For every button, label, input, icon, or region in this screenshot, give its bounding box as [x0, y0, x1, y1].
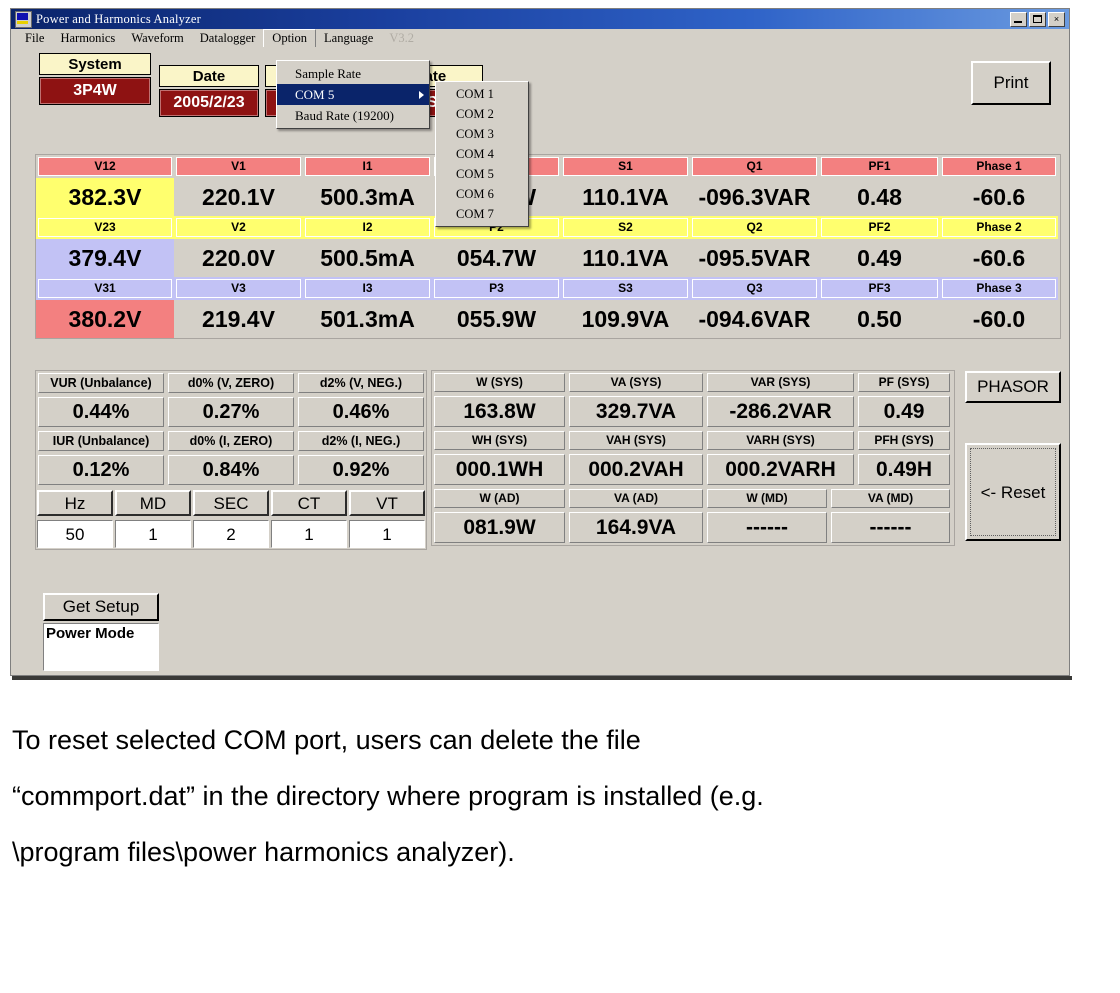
value-p3: 055.9W: [432, 300, 561, 338]
header-va-md: VA (MD): [831, 489, 950, 508]
chevron-right-icon: [419, 91, 424, 99]
value-phase3: -60.0: [940, 300, 1058, 338]
value-w-ad: 081.9W: [434, 512, 565, 543]
header-pf1: PF1: [821, 157, 938, 176]
value-d0-i-zero: 0.84%: [168, 455, 294, 485]
value-vah-sys: 000.2VAH: [569, 454, 703, 485]
sys-value-row-1: 163.8W 329.7VA -286.2VAR 0.49: [432, 394, 954, 429]
system-group: System 3P4W: [39, 53, 151, 105]
window-controls: ×: [1010, 12, 1065, 27]
unbalance-header-row-1: VUR (Unbalance) d0% (V, ZERO) d2% (V, NE…: [36, 371, 426, 395]
value-v31: 380.2V: [36, 300, 174, 338]
menu-language[interactable]: Language: [316, 30, 381, 47]
submenu-item-com1[interactable]: COM 1: [436, 84, 528, 104]
header-w-sys: W (SYS): [434, 373, 565, 392]
caption-text: To reset selected COM port, users can de…: [12, 712, 1092, 880]
get-setup-button[interactable]: Get Setup: [43, 593, 159, 621]
value-q2: -095.5VAR: [690, 239, 819, 277]
menu-file[interactable]: File: [17, 30, 52, 47]
header-va-sys: VA (SYS): [569, 373, 703, 392]
reset-button[interactable]: <- Reset: [965, 443, 1061, 541]
value-v12: 382.3V: [36, 178, 174, 216]
caption-line-3: \program files\power harmonics analyzer)…: [12, 824, 1092, 880]
value-sec[interactable]: 2: [193, 520, 269, 548]
system-label: System: [39, 53, 151, 75]
value-pf-sys: 0.49: [858, 396, 950, 427]
value-v3: 219.4V: [174, 300, 303, 338]
version-label: V3.2: [381, 30, 422, 47]
settings-header-row: Hz MD SEC CT VT: [36, 489, 426, 517]
header-q1: Q1: [692, 157, 817, 176]
menu-item-com5[interactable]: COM 5: [277, 84, 429, 105]
value-s2: 110.1VA: [561, 239, 690, 277]
value-i3: 501.3mA: [303, 300, 432, 338]
header-wh-sys: WH (SYS): [434, 431, 565, 450]
header-phase1: Phase 1: [942, 157, 1056, 176]
submenu-item-com5[interactable]: COM 5: [436, 164, 528, 184]
menu-item-com5-label: COM 5: [295, 87, 334, 102]
close-button[interactable]: ×: [1048, 12, 1065, 27]
header-pf3: PF3: [821, 279, 938, 298]
value-i2: 500.5mA: [303, 239, 432, 277]
menu-item-sample-rate[interactable]: Sample Rate: [277, 63, 429, 84]
value-vt[interactable]: 1: [349, 520, 425, 548]
table-value-row-3: 380.2V 219.4V 501.3mA 055.9W 109.9VA -09…: [36, 300, 1060, 338]
header-phase3: Phase 3: [942, 279, 1056, 298]
app-window: Power and Harmonics Analyzer × File Harm…: [10, 8, 1070, 676]
title-bar: Power and Harmonics Analyzer ×: [11, 9, 1069, 29]
header-v23: V23: [38, 218, 172, 237]
table-header-row-1: V12 V1 I1 P1 S1 Q1 PF1 Phase 1: [36, 155, 1060, 178]
maximize-button[interactable]: [1029, 12, 1046, 27]
value-va-ad: 164.9VA: [569, 512, 703, 543]
header-s3: S3: [563, 279, 688, 298]
power-mode-field[interactable]: Power Mode: [43, 623, 159, 671]
value-d2-i-neg: 0.92%: [298, 455, 424, 485]
header-phase2: Phase 2: [942, 218, 1056, 237]
minimize-button[interactable]: [1010, 12, 1027, 27]
status-bar: System 3P4W Date 2005/2/23 Time 16.52.00…: [25, 53, 1059, 115]
header-d2-i-neg: d2% (I, NEG.): [298, 431, 424, 451]
header-varh-sys: VARH (SYS): [707, 431, 854, 450]
print-button[interactable]: Print: [971, 61, 1051, 105]
header-d2-v-neg: d2% (V, NEG.): [298, 373, 424, 393]
value-varh-sys: 000.2VARH: [707, 454, 854, 485]
value-pf1: 0.48: [819, 178, 940, 216]
header-s2: S2: [563, 218, 688, 237]
unbalance-panel: VUR (Unbalance) d0% (V, ZERO) d2% (V, NE…: [35, 370, 427, 550]
value-pf2: 0.49: [819, 239, 940, 277]
value-v23: 379.4V: [36, 239, 174, 277]
header-i3: I3: [305, 279, 430, 298]
table-header-row-2: V23 V2 I2 P2 S2 Q2 PF2 Phase 2: [36, 216, 1060, 239]
system-summary-panel: W (SYS) VA (SYS) VAR (SYS) PF (SYS) 163.…: [431, 370, 955, 546]
value-i1: 500.3mA: [303, 178, 432, 216]
header-w-md: W (MD): [707, 489, 827, 508]
table-header-row-3: V31 V3 I3 P3 S3 Q3 PF3 Phase 3: [36, 277, 1060, 300]
header-d0-i-zero: d0% (I, ZERO): [168, 431, 294, 451]
submenu-item-com6[interactable]: COM 6: [436, 184, 528, 204]
caption-line-1: To reset selected COM port, users can de…: [12, 712, 1092, 768]
sys-header-row-3: W (AD) VA (AD) W (MD) VA (MD): [432, 487, 954, 510]
value-va-md: ------: [831, 512, 950, 543]
table-value-row-2: 379.4V 220.0V 500.5mA 054.7W 110.1VA -09…: [36, 239, 1060, 277]
header-va-ad: VA (AD): [569, 489, 703, 508]
header-q2: Q2: [692, 218, 817, 237]
value-wh-sys: 000.1WH: [434, 454, 565, 485]
header-p3: P3: [434, 279, 559, 298]
header-v31: V31: [38, 279, 172, 298]
submenu-item-com3[interactable]: COM 3: [436, 124, 528, 144]
menu-waveform[interactable]: Waveform: [123, 30, 191, 47]
header-s1: S1: [563, 157, 688, 176]
settings-value-row: 50 1 2 1 1: [36, 519, 426, 549]
unbalance-value-row-1: 0.44% 0.27% 0.46%: [36, 395, 426, 429]
header-vah-sys: VAH (SYS): [569, 431, 703, 450]
header-pf-sys: PF (SYS): [858, 373, 950, 392]
screenshot-root: Power and Harmonics Analyzer × File Harm…: [0, 0, 1120, 993]
submenu-item-com4[interactable]: COM 4: [436, 144, 528, 164]
window-title: Power and Harmonics Analyzer: [36, 12, 1010, 27]
caption-line-2: “commport.dat” in the directory where pr…: [12, 768, 1092, 824]
phasor-button[interactable]: PHASOR: [965, 371, 1061, 403]
value-w-md: ------: [707, 512, 827, 543]
header-v3: V3: [176, 279, 301, 298]
header-pf2: PF2: [821, 218, 938, 237]
sys-header-row-2: WH (SYS) VAH (SYS) VARH (SYS) PFH (SYS): [432, 429, 954, 452]
value-phase1: -60.6: [940, 178, 1058, 216]
value-vur: 0.44%: [38, 397, 164, 427]
header-vt: VT: [349, 490, 425, 516]
value-d0-v-zero: 0.27%: [168, 397, 294, 427]
menu-datalogger[interactable]: Datalogger: [192, 30, 264, 47]
header-hz: Hz: [37, 490, 113, 516]
header-d0-v-zero: d0% (V, ZERO): [168, 373, 294, 393]
system-value: 3P4W: [39, 77, 151, 105]
value-q1: -096.3VAR: [690, 178, 819, 216]
header-pfh-sys: PFH (SYS): [858, 431, 950, 450]
measurement-table: V12 V1 I1 P1 S1 Q1 PF1 Phase 1 382.3V 22…: [35, 154, 1061, 339]
header-vur: VUR (Unbalance): [38, 373, 164, 393]
value-v2: 220.0V: [174, 239, 303, 277]
menu-bar: File Harmonics Waveform Datalogger Optio…: [11, 29, 1069, 47]
date-label: Date: [159, 65, 259, 87]
value-va-sys: 329.7VA: [569, 396, 703, 427]
header-v12: V12: [38, 157, 172, 176]
com-port-submenu: COM 1 COM 2 COM 3 COM 4 COM 5 COM 6 COM …: [435, 81, 529, 227]
menu-harmonics[interactable]: Harmonics: [52, 30, 123, 47]
header-q3: Q3: [692, 279, 817, 298]
header-v2: V2: [176, 218, 301, 237]
submenu-item-com2[interactable]: COM 2: [436, 104, 528, 124]
header-v1: V1: [176, 157, 301, 176]
value-q3: -094.6VAR: [690, 300, 819, 338]
value-p2: 054.7W: [432, 239, 561, 277]
value-pf3: 0.50: [819, 300, 940, 338]
header-iur: IUR (Unbalance): [38, 431, 164, 451]
header-i2: I2: [305, 218, 430, 237]
header-i1: I1: [305, 157, 430, 176]
menu-item-baud-rate[interactable]: Baud Rate (19200): [277, 105, 429, 126]
value-v1: 220.1V: [174, 178, 303, 216]
value-ct[interactable]: 1: [271, 520, 347, 548]
date-group: Date 2005/2/23: [159, 65, 259, 117]
menu-option[interactable]: Option: [263, 29, 316, 47]
window-bottom-edge: [12, 676, 1072, 680]
value-iur: 0.12%: [38, 455, 164, 485]
value-w-sys: 163.8W: [434, 396, 565, 427]
value-md[interactable]: 1: [115, 520, 191, 548]
date-value: 2005/2/23: [159, 89, 259, 117]
table-value-row-1: 382.3V 220.1V 500.3mA 053.2W 110.1VA -09…: [36, 178, 1060, 216]
header-ct: CT: [271, 490, 347, 516]
value-s3: 109.9VA: [561, 300, 690, 338]
header-md: MD: [115, 490, 191, 516]
header-var-sys: VAR (SYS): [707, 373, 854, 392]
sys-header-row-1: W (SYS) VA (SYS) VAR (SYS) PF (SYS): [432, 371, 954, 394]
value-pfh-sys: 0.49H: [858, 454, 950, 485]
value-d2-v-neg: 0.46%: [298, 397, 424, 427]
sys-value-row-2: 000.1WH 000.2VAH 000.2VARH 0.49H: [432, 452, 954, 487]
header-sec: SEC: [193, 490, 269, 516]
client-area: System 3P4W Date 2005/2/23 Time 16.52.00…: [17, 53, 1063, 669]
value-s1: 110.1VA: [561, 178, 690, 216]
unbalance-value-row-2: 0.12% 0.84% 0.92%: [36, 453, 426, 487]
header-w-ad: W (AD): [434, 489, 565, 508]
submenu-item-com7[interactable]: COM 7: [436, 204, 528, 224]
app-icon: [15, 11, 32, 28]
value-phase2: -60.6: [940, 239, 1058, 277]
unbalance-header-row-2: IUR (Unbalance) d0% (I, ZERO) d2% (I, NE…: [36, 429, 426, 453]
option-dropdown-menu: Sample Rate COM 5 Baud Rate (19200): [276, 60, 430, 129]
sys-value-row-3: 081.9W 164.9VA ------ ------: [432, 510, 954, 545]
value-hz[interactable]: 50: [37, 520, 113, 548]
value-var-sys: -286.2VAR: [707, 396, 854, 427]
